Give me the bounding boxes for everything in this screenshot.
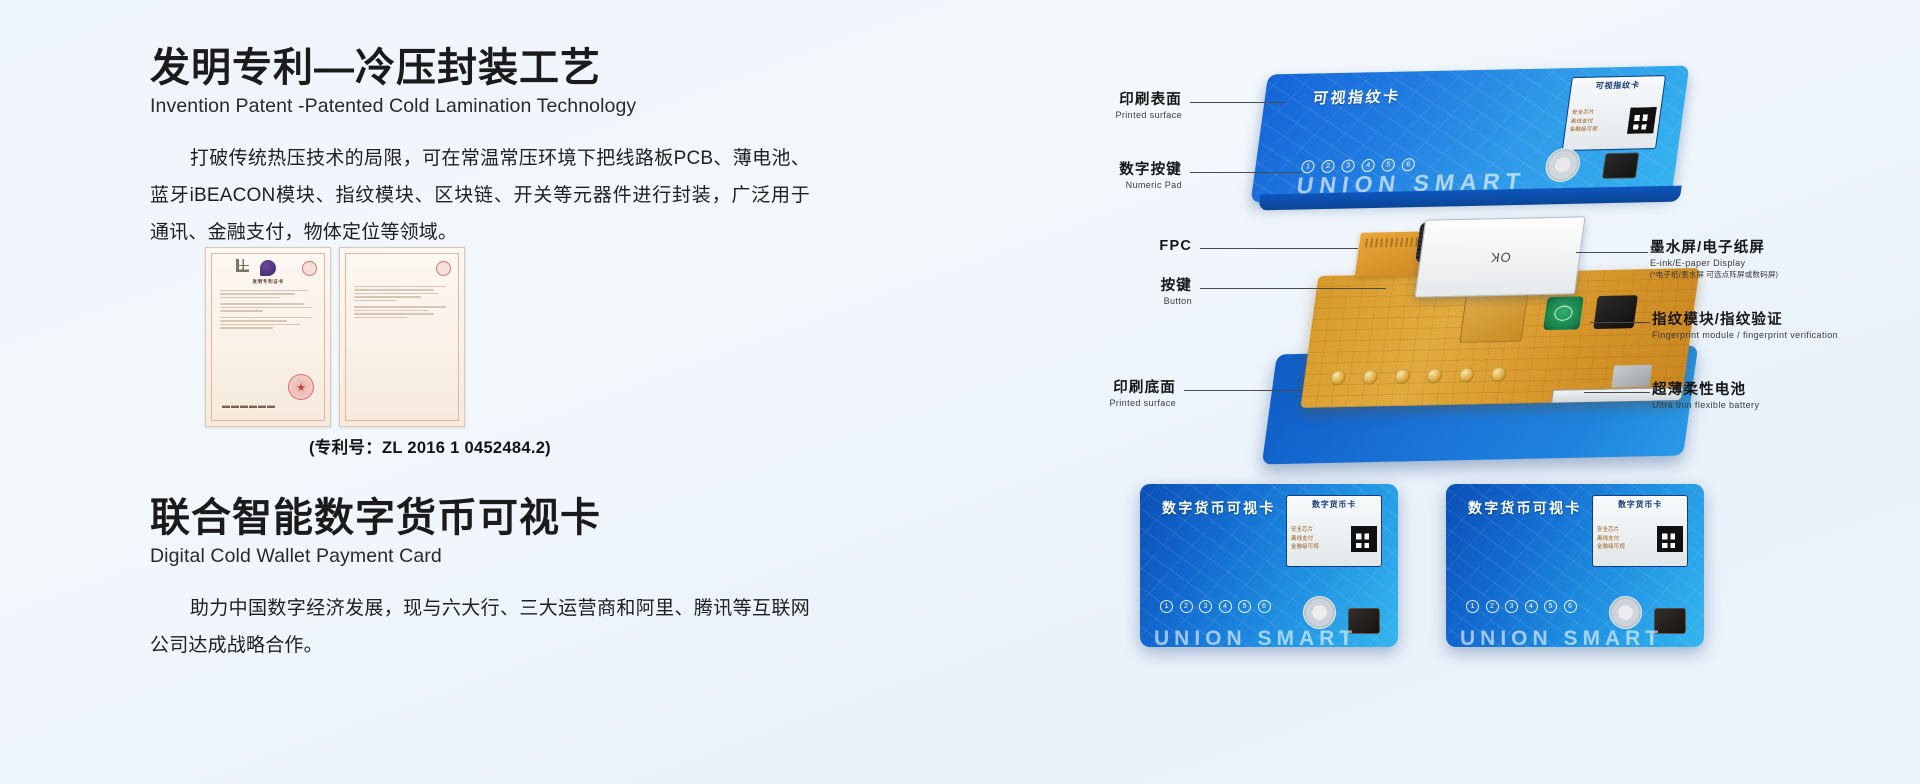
label-button-cn: 按键 [1040,274,1192,295]
label-epaper-en: E-ink/E-paper Display [1650,258,1778,268]
pcb-contact-pads [1329,367,1507,386]
card-display-line-1: 安全芯片 [1571,109,1627,117]
label-button-en: Button [1040,296,1192,306]
card-display: 可视指纹卡 安全芯片 离线支付 金融级可视 [1562,75,1666,151]
digital-card-1-keypad: 1 2 3 4 5 6 [1160,600,1271,613]
leader-line-epaper [1576,252,1648,253]
card-brand-cn: 可视指纹卡 [1311,86,1402,109]
label-fpc: FPC [1040,238,1192,254]
section-digital-card: 联合智能数字货币可视卡 Digital Cold Wallet Payment … [150,495,850,664]
label-numeric-pad-cn: 数字按键 [1010,158,1182,179]
digital-card-1-display: 数字货币卡 安全芯片 离线支付 金融级可视 [1286,495,1382,567]
leader-line-battery [1584,392,1650,393]
certificate-title: 发明专利证书 [220,279,316,285]
label-printed-bottom-en: Printed surface [1004,398,1176,408]
keypad-key[interactable]: 6 [1258,600,1271,613]
digital-card-2-display-title: 数字货币卡 [1618,499,1662,510]
digital-card-1: 数字货币可视卡 数字货币卡 安全芯片 离线支付 金融级可视 1 2 3 4 5 [1140,484,1398,647]
certificate-right [339,247,465,427]
page-root: 发明专利—冷压封装工艺 Invention Patent -Patented C… [0,0,1920,784]
card-top-layer: 可视指纹卡 可视指纹卡 安全芯片 离线支付 金融级可视 1 2 3 4 5 [1251,66,1690,203]
card-display-line-3: 金融级可视 [1569,126,1625,134]
page-subtitle: Invention Patent -Patented Cold Laminati… [150,95,830,118]
digital-card-2-line-3: 金融级可视 [1597,544,1654,551]
label-numeric-pad-en: Numeric Pad [1010,180,1182,190]
fingerprint-module-chip [1593,295,1638,329]
label-epaper-note: (*电子纸/墨水屏 可选点阵屏或数码屏) [1650,269,1778,280]
fingerprint-pad-icon [1602,152,1640,179]
digital-card-2: 数字货币可视卡 数字货币卡 安全芯片 离线支付 金融级可视 1 2 3 4 5 [1446,484,1704,647]
label-battery-en: Ultra thin flexible battery [1652,400,1759,410]
digital-card-2-line-2: 离线支付 [1597,536,1654,543]
label-button: 按键 Button [1040,274,1192,306]
digital-card-1-display-title: 数字货币卡 [1312,499,1356,510]
label-fingerprint-en: Fingerprint module / fingerprint verific… [1652,330,1838,340]
leader-line-button [1200,288,1386,289]
keypad-key[interactable]: 4 [1219,600,1232,613]
certificate-images: 发明专利证书 ▬▬▬▬▬▬ [205,247,465,427]
keypad-key[interactable]: 3 [1199,600,1212,613]
section-patent: 发明专利—冷压封装工艺 Invention Patent -Patented C… [150,45,830,251]
label-printed-surface: 印刷表面 Printed surface [1010,88,1182,120]
certificate-stamp-icon [288,374,314,400]
label-printed-surface-en: Printed surface [1010,110,1182,120]
cert-emblem-icon [260,260,276,276]
card-nav-ring [1543,148,1582,183]
digital-card-2-brand-cn: 数字货币可视卡 [1468,498,1581,518]
leader-line-numeric-pad [1190,172,1300,173]
section2-title: 联合智能数字货币可视卡 [150,495,850,541]
keypad-key[interactable]: 4 [1525,600,1538,613]
digital-card-1-line-3: 金融级可视 [1291,544,1348,551]
epaper-display-text: OK [1489,249,1512,264]
page-title: 发明专利—冷压封装工艺 [150,45,830,91]
keypad-key[interactable]: 1 [1160,600,1173,613]
digital-card-2-keypad: 1 2 3 4 5 6 [1466,600,1577,613]
label-fpc-cn: FPC [1040,238,1192,254]
label-printed-bottom: 印刷底面 Printed surface [1004,376,1176,408]
leader-line-fingerprint [1590,322,1650,323]
certificate-signature: ▬▬▬▬▬▬ [222,401,276,410]
digital-card-1-line-1: 安全芯片 [1291,527,1348,534]
keypad-key[interactable]: 2 [1486,600,1499,613]
leader-line-fpc [1200,248,1358,249]
digital-card-2-qr-icon [1657,526,1683,552]
digital-card-1-line-2: 离线支付 [1291,536,1348,543]
patent-number: (专利号：ZL 2016 1 0452484.2) [150,434,710,458]
keypad-key[interactable]: 3 [1505,600,1518,613]
label-battery-cn: 超薄柔性电池 [1652,378,1759,399]
label-epaper: 墨水屏/电子纸屏 E-ink/E-paper Display (*电子纸/墨水屏… [1650,236,1778,280]
digital-card-1-nav-ring [1303,596,1336,629]
digital-card-2-nav-ring [1609,596,1642,629]
section2-subtitle: Digital Cold Wallet Payment Card [150,545,850,568]
epaper-display: OK [1414,216,1585,297]
label-fingerprint-cn: 指纹模块/指纹验证 [1652,308,1838,329]
card-display-qr-icon [1627,107,1657,134]
certificate-left: 发明专利证书 ▬▬▬▬▬▬ [205,247,331,427]
label-battery: 超薄柔性电池 Ultra thin flexible battery [1652,378,1759,410]
label-printed-bottom-cn: 印刷底面 [1004,376,1176,397]
leader-line-printed-surface [1190,102,1286,103]
card-display-line-2: 离线支付 [1570,117,1626,125]
digital-card-2-brand-en: UNION SMART [1460,627,1663,647]
section2-description: 助力中国数字经济发展，现与六大行、三大运营商和阿里、腾讯等互联网公司达成战略合作… [150,590,810,664]
digital-card-1-brand-cn: 数字货币可视卡 [1162,498,1275,518]
keypad-key[interactable]: 5 [1544,600,1557,613]
keypad-key[interactable]: 5 [1238,600,1251,613]
keypad-key[interactable]: 6 [1564,600,1577,613]
leader-line-printed-bottom [1184,390,1300,391]
label-epaper-cn: 墨水屏/电子纸屏 [1650,236,1778,257]
label-printed-surface-cn: 印刷表面 [1010,88,1182,109]
digital-card-2-display: 数字货币卡 安全芯片 离线支付 金融级可视 [1592,495,1688,567]
keypad-key[interactable]: 1 [1466,600,1479,613]
digital-card-2-line-1: 安全芯片 [1597,527,1654,534]
label-fingerprint-module: 指纹模块/指纹验证 Fingerprint module / fingerpri… [1652,308,1838,340]
keypad-key[interactable]: 2 [1180,600,1193,613]
digital-card-1-brand-en: UNION SMART [1154,627,1357,647]
label-numeric-pad: 数字按键 Numeric Pad [1010,158,1182,190]
secure-element-chip [1611,365,1652,388]
digital-card-1-qr-icon [1351,526,1377,552]
patent-description: 打破传统热压技术的局限，可在常温常压环境下把线路板PCB、薄电池、蓝牙iBEAC… [150,140,810,251]
fingerprint-sensor-chip [1543,296,1584,330]
product-diagram: OK 可视指纹卡 可视指纹卡 安全芯片 离线支付 金融级可视 1 2 3 [1120,50,1920,750]
